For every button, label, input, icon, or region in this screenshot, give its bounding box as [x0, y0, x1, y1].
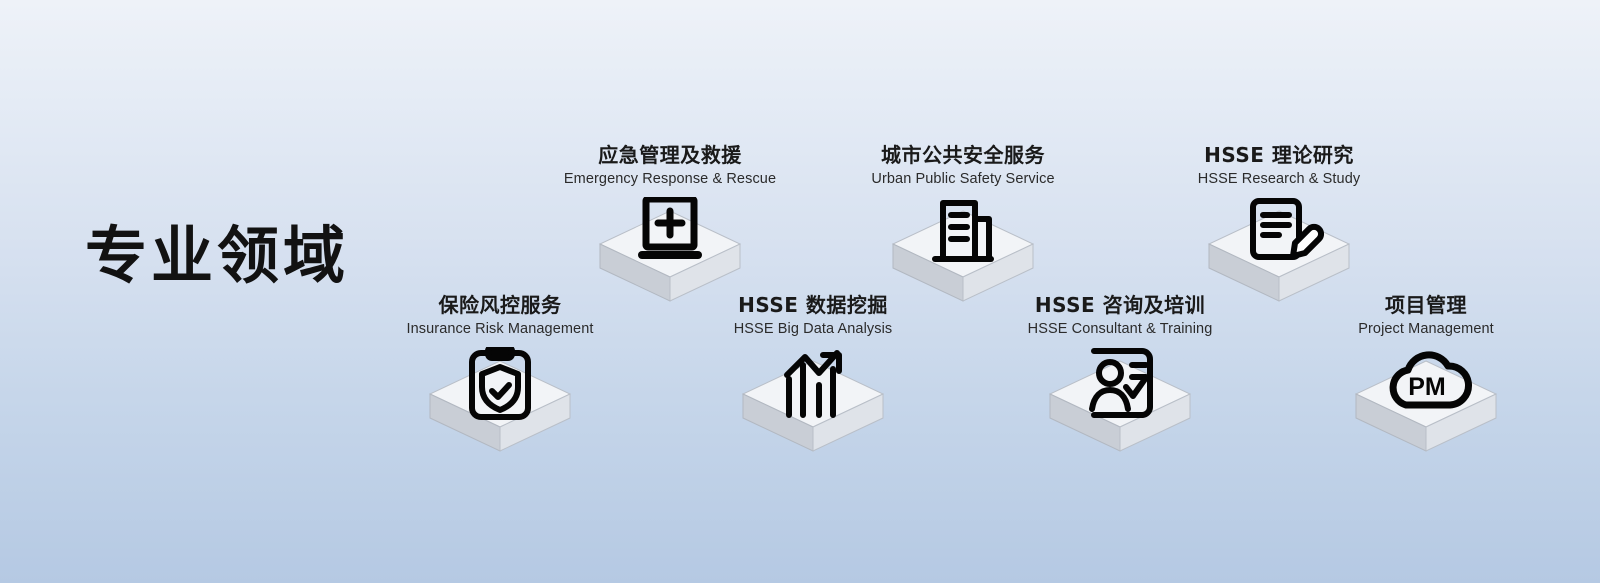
- domain-title-en: HSSE Consultant & Training: [990, 320, 1250, 339]
- bar-chart-arrow-icon: [733, 347, 893, 457]
- domain-title-en: Insurance Risk Management: [370, 320, 630, 339]
- domain-title-en: Project Management: [1296, 320, 1556, 339]
- domain-title-zh: HSSE 理论研究: [1149, 144, 1409, 167]
- domain-icon-art: PM: [1296, 347, 1556, 467]
- domain-title-zh: 城市公共安全服务: [833, 144, 1093, 167]
- svg-text:PM: PM: [1408, 373, 1446, 401]
- clipboard-shield-check-icon: [420, 347, 580, 457]
- domain-card-hsse-consultant-training[interactable]: HSSE 咨询及培训 HSSE Consultant & Training: [990, 294, 1250, 467]
- domain-card-project-management[interactable]: 项目管理 Project Management PM: [1296, 294, 1556, 467]
- domain-title-en: Urban Public Safety Service: [833, 170, 1093, 189]
- first-aid-plus-icon: [590, 197, 750, 307]
- domain-card-hsse-research-study[interactable]: HSSE 理论研究 HSSE Research & Study: [1149, 144, 1409, 317]
- buildings-icon: [883, 197, 1043, 307]
- domain-title-en: Emergency Response & Rescue: [540, 170, 800, 189]
- domain-labels: 城市公共安全服务 Urban Public Safety Service: [833, 144, 1093, 189]
- domain-icon-art: [990, 347, 1250, 467]
- domain-card-emergency-response-rescue[interactable]: 应急管理及救援 Emergency Response & Rescue: [540, 144, 800, 317]
- domain-labels: HSSE 理论研究 HSSE Research & Study: [1149, 144, 1409, 189]
- domain-title-en: HSSE Research & Study: [1149, 170, 1409, 189]
- domain-card-insurance-risk-management[interactable]: 保险风控服务 Insurance Risk Management: [370, 294, 630, 467]
- domain-icon-art: [683, 347, 943, 467]
- id-card-person-check-icon: [1040, 347, 1200, 457]
- domain-icon-art: [370, 347, 630, 467]
- cloud-pm-icon: PM: [1346, 347, 1506, 457]
- domain-labels: 应急管理及救援 Emergency Response & Rescue: [540, 144, 800, 189]
- domain-card-hsse-big-data-analysis[interactable]: HSSE 数据挖掘 HSSE Big Data Analysis: [683, 294, 943, 467]
- professional-domains-infographic: 专业领域 应急管理及救援 Emergency Response & Rescue…: [0, 0, 1600, 583]
- page-title: 专业领域: [85, 225, 349, 287]
- domain-title-zh: 应急管理及救援: [540, 144, 800, 167]
- document-pencil-icon: [1199, 197, 1359, 307]
- domain-title-en: HSSE Big Data Analysis: [683, 320, 943, 339]
- domain-card-urban-public-safety-service[interactable]: 城市公共安全服务 Urban Public Safety Service: [833, 144, 1093, 317]
